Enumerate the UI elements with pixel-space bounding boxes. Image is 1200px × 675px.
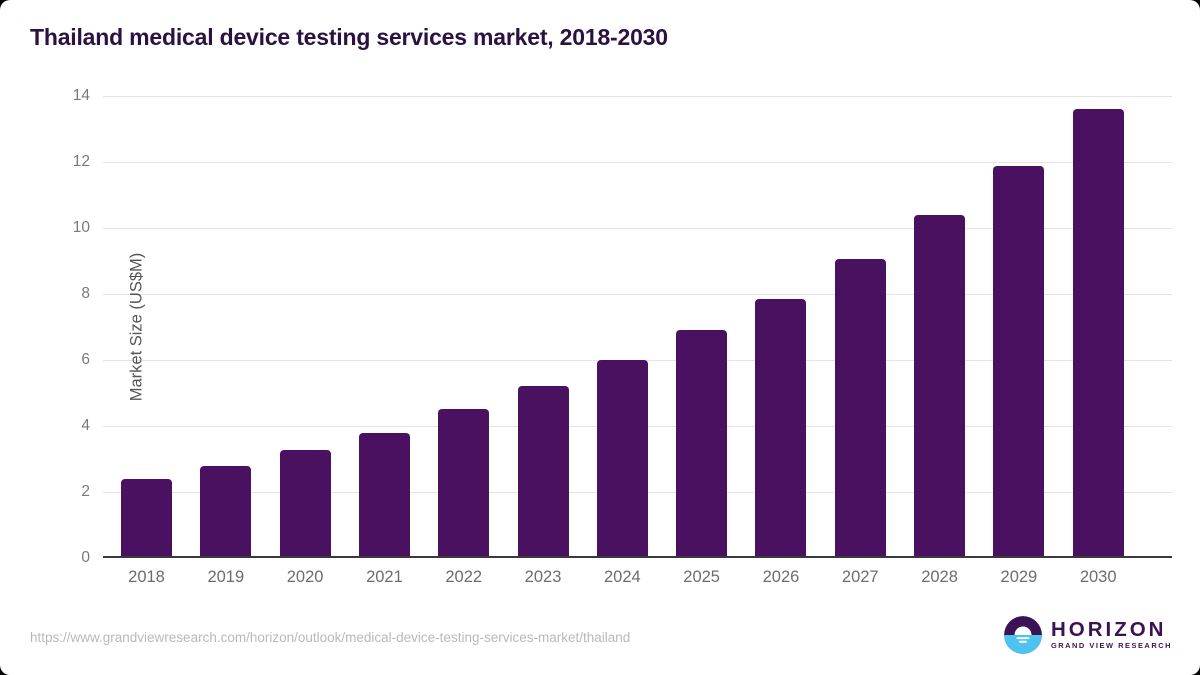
logo-wordmark: HORIZON (1051, 619, 1172, 641)
x-axis-tick-label: 2020 (265, 568, 345, 587)
x-axis-tick-label: 2018 (107, 568, 187, 587)
horizon-mark-icon (1004, 616, 1042, 654)
chart-card: Thailand medical device testing services… (0, 0, 1200, 675)
x-axis-tick-label: 2023 (503, 568, 583, 587)
logo-tagline: GRAND VIEW RESEARCH (1051, 642, 1172, 651)
x-axis-tick-label: 2025 (662, 568, 742, 587)
x-axis-tick-label: 2022 (424, 568, 504, 587)
x-axis-tick-label: 2024 (582, 568, 662, 587)
horizon-logo[interactable]: HORIZON GRAND VIEW RESEARCH (1004, 616, 1172, 654)
x-axis-tick-label: 2019 (186, 568, 266, 587)
x-axis-tick-label: 2028 (900, 568, 980, 587)
logo-text: HORIZON GRAND VIEW RESEARCH (1051, 619, 1172, 651)
source-url[interactable]: https://www.grandviewresearch.com/horizo… (30, 630, 630, 645)
x-axis-tick-label: 2026 (741, 568, 821, 587)
x-axis-tick-label: 2029 (979, 568, 1059, 587)
x-axis-tick-label: 2021 (344, 568, 424, 587)
x-axis-tick-label: 2030 (1058, 568, 1138, 587)
x-axis-tick-labels: 2018201920202021202220232024202520262027… (0, 0, 1200, 675)
x-axis-tick-label: 2027 (820, 568, 900, 587)
